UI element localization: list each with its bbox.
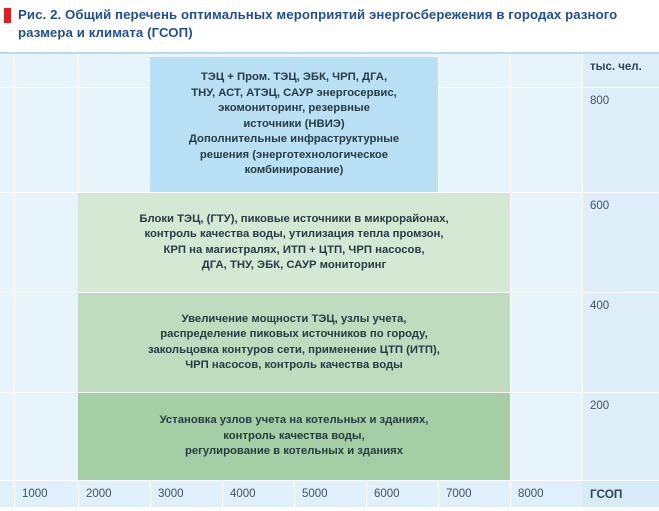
y-axis-tick-600: 600 [590,199,609,213]
x-axis-tick-2000: 2000 [78,481,150,507]
y-axis-unit-label: тыс. чел. [590,61,642,73]
measure-block-3: Увеличение мощности ТЭЦ, узлы учета, рас… [78,293,510,392]
x-axis-tick-5000: 5000 [294,481,366,507]
x-axis-tick-3000: 3000 [150,481,222,507]
x-axis-tick-1000: 1000 [14,481,78,507]
grid-line-vertical [510,54,511,480]
y-axis-tick-200: 200 [590,399,609,413]
y-axis-tick-400: 400 [590,299,609,313]
title-accent-marker [4,8,11,23]
x-axis-tick-8000: 8000 [510,481,582,507]
x-axis-tick-6000: 6000 [366,481,438,507]
measure-block-4: Установка узлов учета на котельных и зда… [78,393,510,480]
x-axis-title: ГСОП [582,481,659,507]
grid-line-vertical [14,54,15,480]
plot-area: ТЭЦ + Пром. ТЭЦ, ЭБК, ЧРП, ДГА, ТНУ, АСТ… [0,54,659,480]
figure-title-bar: Рис. 2. Общий перечень оптимальных мероп… [0,0,659,46]
x-axis-tick-7000: 7000 [438,481,510,507]
y-axis-value-column [582,54,659,480]
chart-container: ТЭЦ + Пром. ТЭЦ, ЭБК, ЧРП, ДГА, ТНУ, АСТ… [0,52,659,504]
y-axis-tick-800: 800 [590,94,609,108]
x-axis-strip: 1000 2000 3000 4000 5000 6000 7000 8000 … [0,480,659,507]
grid-line-vertical [582,54,583,480]
measure-block-2: Блоки ТЭЦ, (ГТУ), пиковые источники в ми… [78,193,510,292]
page-title: Рис. 2. Общий перечень оптимальных мероп… [18,6,649,42]
x-axis-tick-4000: 4000 [222,481,294,507]
measure-block-1: ТЭЦ + Пром. ТЭЦ, ЭБК, ЧРП, ДГА, ТНУ, АСТ… [150,57,438,192]
